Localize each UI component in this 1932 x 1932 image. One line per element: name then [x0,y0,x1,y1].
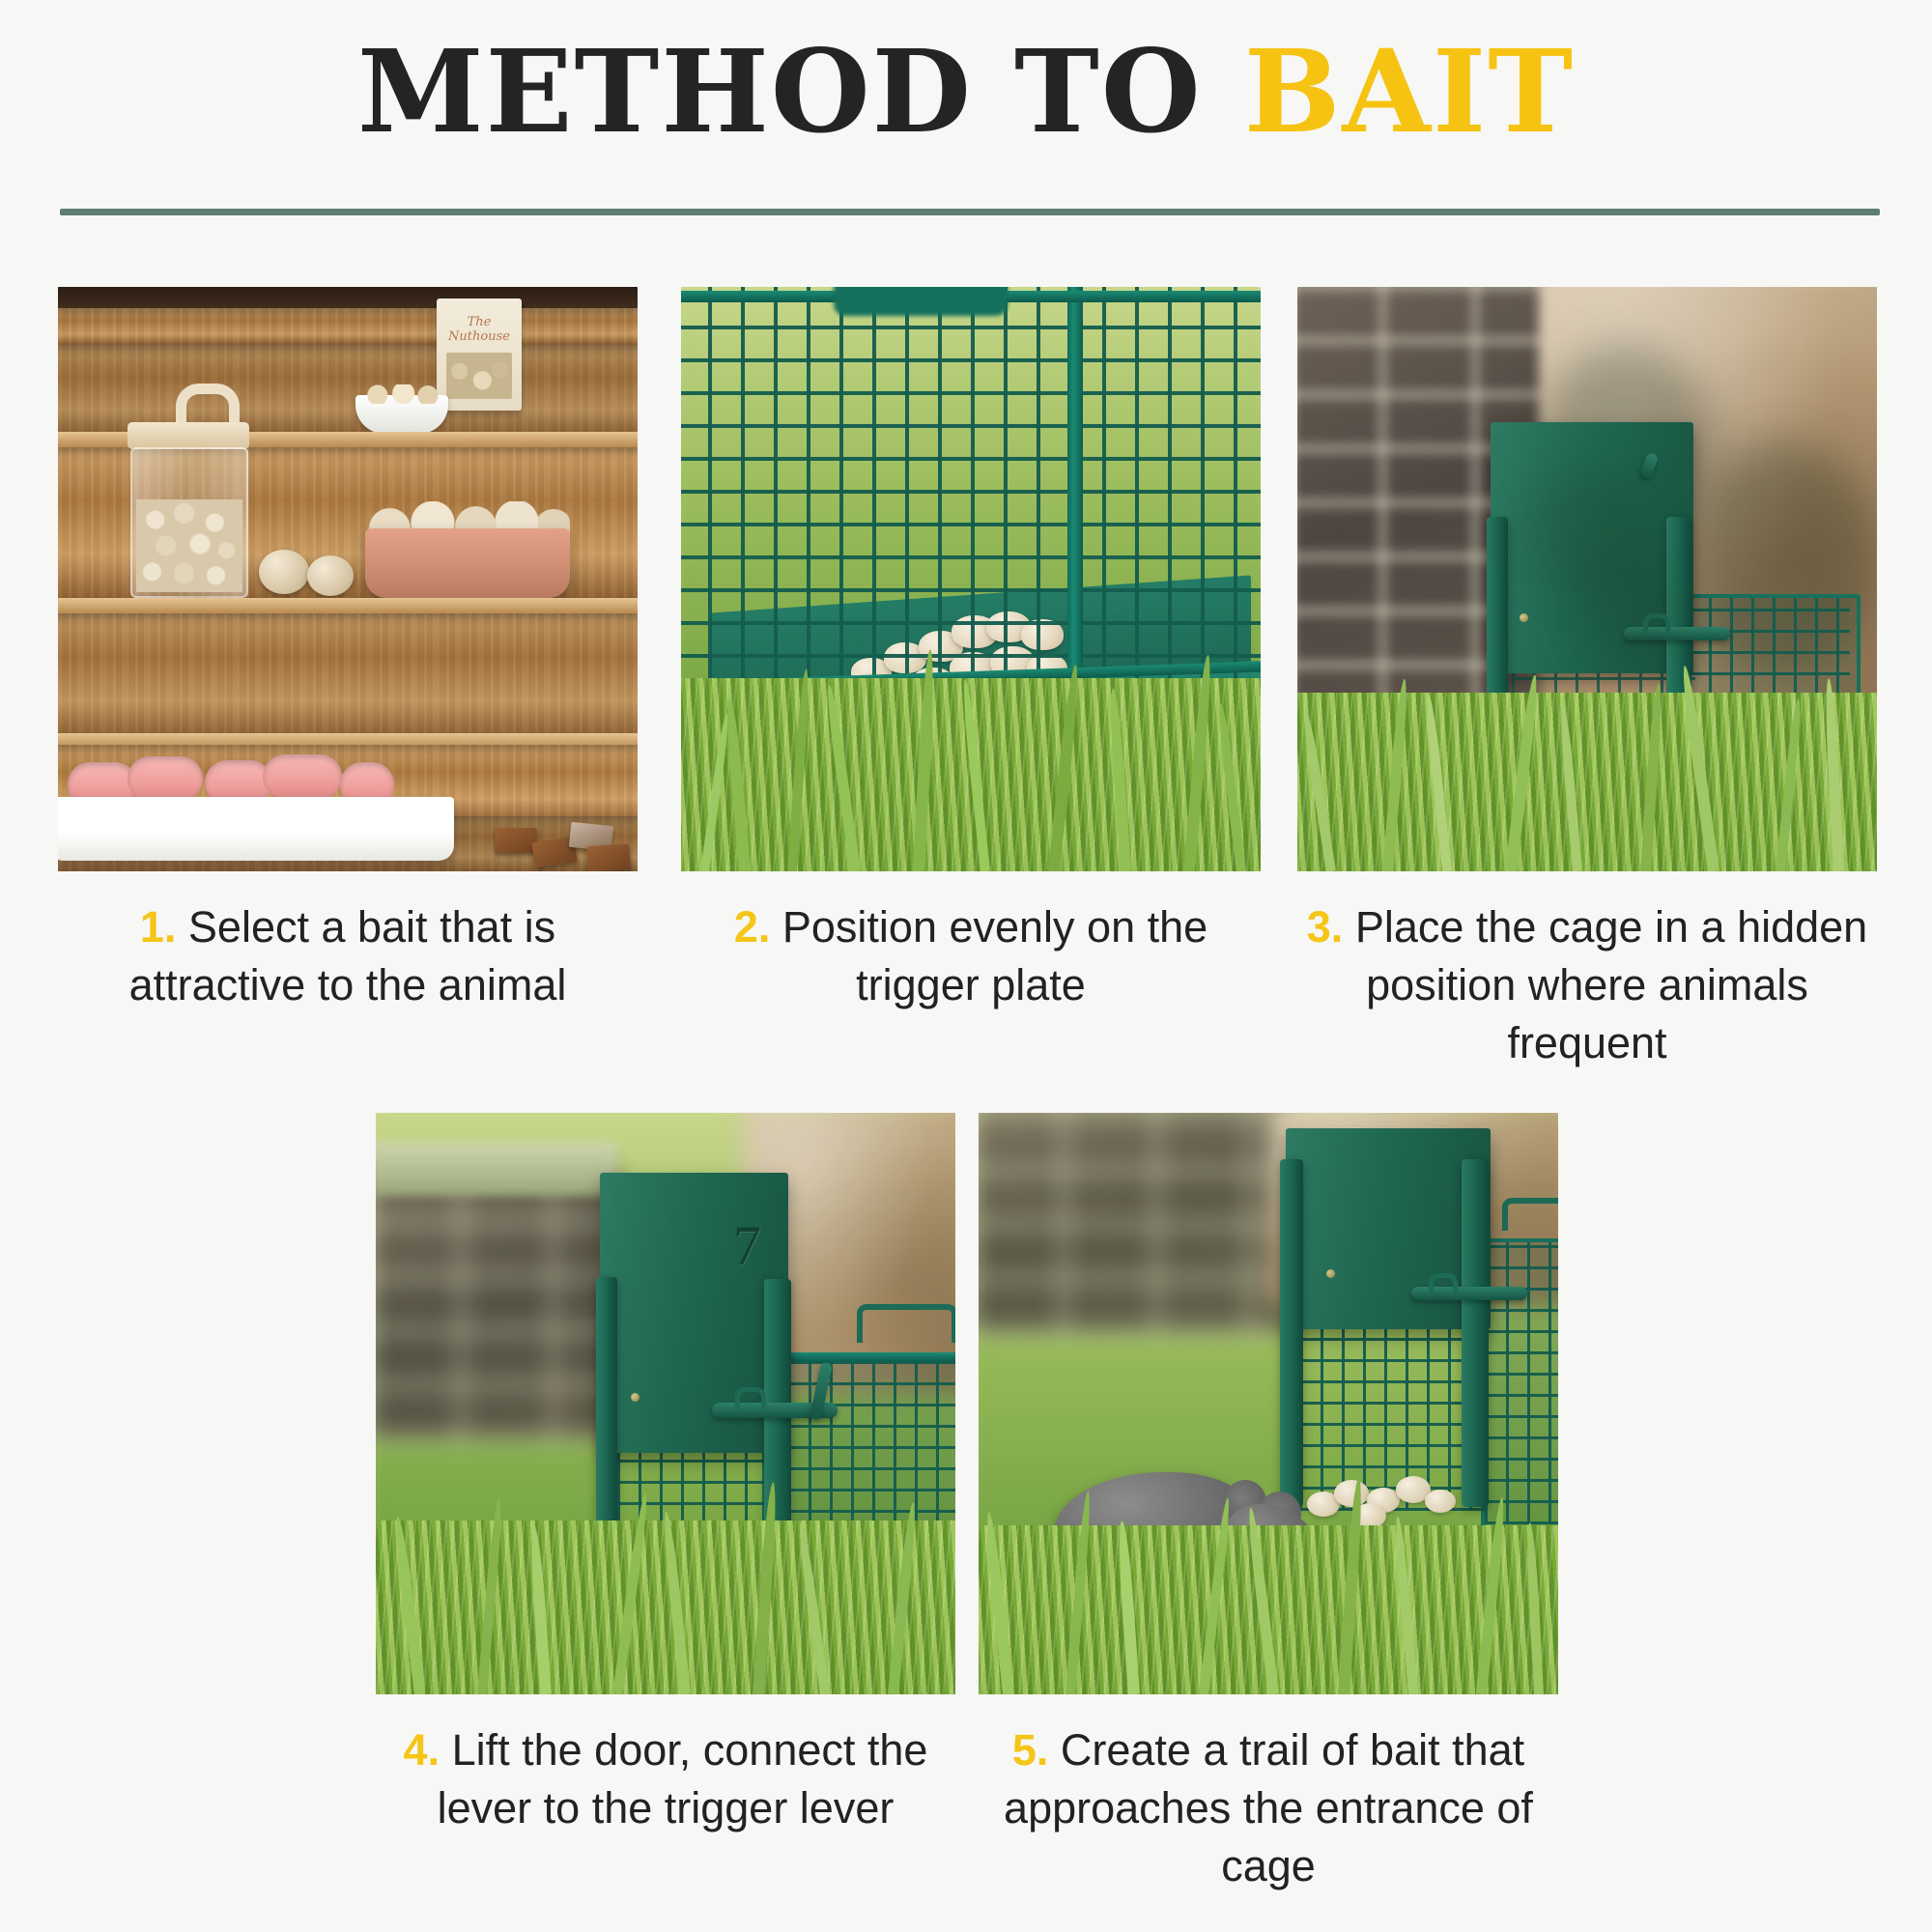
door-rail-post [1280,1159,1303,1507]
step-card-4: 7 4. [376,1113,955,1837]
step-3-text: Place the cage in a hidden position wher… [1355,902,1867,1067]
step-4-image: 7 [376,1113,955,1694]
background-ledge [376,1142,617,1196]
white-tray [58,797,454,861]
step-4-caption: 4. Lift the door, connect the lever to t… [376,1721,955,1837]
background-wall [979,1113,1288,1335]
door-number-mark: 7 [733,1213,761,1278]
step-1-caption: 1. Select a bait that is attractive to t… [58,898,638,1014]
sausage-bait [128,756,203,801]
step-1-text: Select a bait that is attractive to the … [129,902,567,1009]
step-1-number: 1. [140,902,177,952]
walnut [259,550,309,594]
step-2-number: 2. [734,902,771,952]
step-card-3: 3. Place the cage in a hidden position w… [1297,287,1877,1072]
door-rail-post [1462,1159,1489,1507]
page-title: METHOD TO BAIT [0,29,1932,155]
chocolate-bait [495,828,537,853]
cage-carry-handle [1502,1198,1558,1231]
step-card-2: 2. Position evenly on the trigger plate [681,287,1261,1014]
step-3-number: 3. [1307,902,1344,952]
pistachio-jar [130,447,248,598]
step-card-5: 5. Create a trail of bait that approache… [979,1113,1558,1895]
cage-mesh [1485,1242,1558,1524]
bait-bag: TheNuthouse [437,298,522,411]
chocolate-bait [586,843,631,871]
page-title-accent: BAIT [1244,24,1575,158]
brick-wall [376,1171,617,1441]
step-3-image [1297,287,1877,871]
step-5-number: 5. [1012,1725,1049,1775]
lever-hook [1429,1273,1458,1293]
cage-handle [834,287,1008,316]
lever-hook [735,1387,766,1409]
step-card-1: TheNuthouse [58,287,638,1014]
step-4-number: 4. [404,1725,440,1775]
jar-lid [128,422,249,449]
step-1-image: TheNuthouse [58,287,638,871]
step-2-image [681,287,1261,871]
white-bowl [355,395,448,434]
sausage-bait [263,754,342,799]
step-5-caption: 5. Create a trail of bait that approache… [979,1721,1558,1895]
step-2-text: Position evenly on the trigger plate [782,902,1207,1009]
scene-trigger-plate [681,287,1261,871]
step-5-image [979,1113,1558,1694]
scene-hidden-placement [1297,287,1877,871]
step-3-caption: 3. Place the cage in a hidden position w… [1297,898,1877,1072]
scene-bait-shelf: TheNuthouse [58,287,638,871]
step-5-text: Create a trail of bait that approaches t… [1004,1725,1533,1890]
step-2-caption: 2. Position evenly on the trigger plate [681,898,1261,1014]
cage-carry-handle [857,1304,955,1343]
step-4-text: Lift the door, connect the lever to the … [438,1725,928,1833]
bait-trail [1307,1472,1462,1530]
walnut [307,555,354,596]
copper-bowl [365,528,570,598]
infographic-page: METHOD TO BAIT TheNuthouse [0,0,1932,1932]
page-title-primary: METHOD TO [357,24,1203,158]
header-divider [60,209,1880,215]
scene-lift-door: 7 [376,1113,955,1694]
scene-bait-trail [979,1113,1558,1694]
